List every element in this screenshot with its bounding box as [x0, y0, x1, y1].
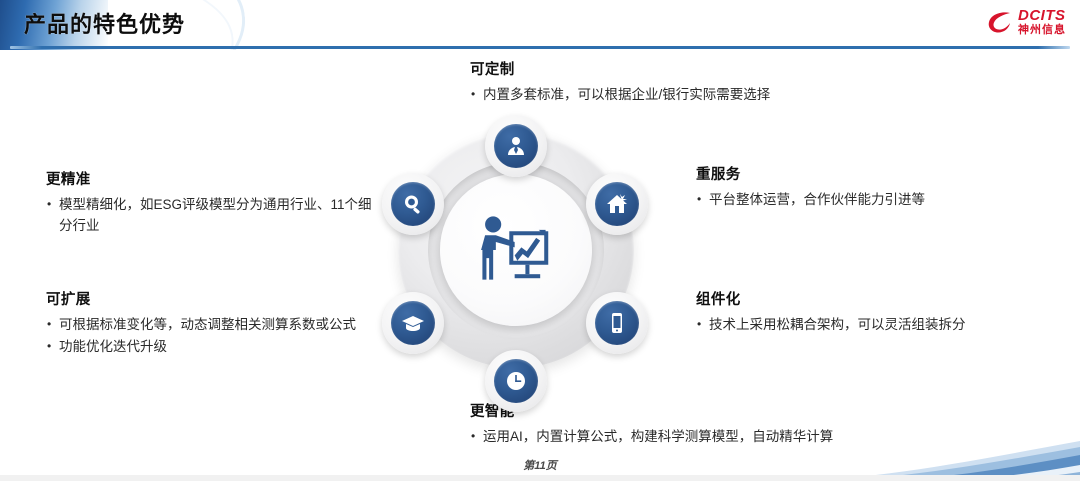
feature-block-accurate: 更精准 模型精细化，如ESG评级模型分为通用行业、11个细分行业	[46, 168, 376, 237]
feature-block-extensible: 可扩展 可根据标准变化等，动态调整相关测算系数或公式 功能优化迭代升级	[46, 288, 376, 358]
wheel-node-education[interactable]	[382, 292, 444, 354]
feature-bullet-list: 可根据标准变化等，动态调整相关测算系数或公式 功能优化迭代升级	[46, 314, 376, 357]
feature-block-componentized: 组件化 技术上采用松耦合架构，可以灵活组装拆分	[696, 288, 1026, 336]
node-core	[595, 301, 639, 345]
brand-text: DCITS 神州信息	[1018, 8, 1066, 36]
page-title: 产品的特色优势	[24, 7, 185, 39]
graduation-cap-icon	[401, 311, 425, 335]
feature-bullet-list: 内置多套标准，可以根据企业/银行实际需要选择	[470, 84, 890, 105]
feature-block-customizable: 可定制 内置多套标准，可以根据企业/银行实际需要选择	[470, 58, 890, 106]
node-core	[391, 182, 435, 226]
mobile-phone-icon	[605, 311, 629, 335]
wheel-node-clock[interactable]	[485, 350, 547, 412]
node-core	[494, 359, 538, 403]
feature-bullet: 技术上采用松耦合架构，可以灵活组装拆分	[696, 314, 1026, 335]
feature-block-service: 重服务 平台整体运营，合作伙伴能力引进等	[696, 163, 1026, 211]
feature-title: 可扩展	[46, 288, 376, 309]
header-divider-line	[10, 46, 1070, 49]
presenter-chart-icon	[473, 207, 559, 293]
wheel-hub	[440, 174, 592, 326]
wheel-node-search[interactable]	[382, 173, 444, 235]
feature-bullet: 内置多套标准，可以根据企业/银行实际需要选择	[470, 84, 890, 105]
home-icon	[605, 192, 629, 216]
feature-bullet: 模型精细化，如ESG评级模型分为通用行业、11个细分行业	[46, 194, 376, 236]
feature-bullet-list: 平台整体运营，合作伙伴能力引进等	[696, 189, 1026, 210]
node-core	[494, 124, 538, 168]
user-icon	[504, 134, 528, 158]
feature-bullet: 平台整体运营，合作伙伴能力引进等	[696, 189, 1026, 210]
dcits-swoosh-icon	[987, 10, 1013, 34]
magnifier-icon	[401, 192, 425, 216]
brand-logo: DCITS 神州信息	[987, 8, 1066, 36]
feature-title: 更精准	[46, 168, 376, 189]
brand-name-en: DCITS	[1018, 8, 1066, 23]
feature-title: 组件化	[696, 288, 1026, 309]
feature-wheel-diagram	[376, 110, 656, 400]
clock-icon	[504, 369, 528, 393]
footer-bottom-bar	[0, 475, 1080, 481]
slide-header: 产品的特色优势	[0, 0, 1080, 50]
node-core	[595, 182, 639, 226]
feature-bullet-list: 技术上采用松耦合架构，可以灵活组装拆分	[696, 314, 1026, 335]
node-core	[391, 301, 435, 345]
brand-name-cn: 神州信息	[1018, 25, 1066, 36]
wheel-node-mobile[interactable]	[586, 292, 648, 354]
feature-title: 重服务	[696, 163, 1026, 184]
feature-bullet-list: 模型精细化，如ESG评级模型分为通用行业、11个细分行业	[46, 194, 376, 236]
wheel-node-user[interactable]	[485, 115, 547, 177]
wheel-node-home[interactable]	[586, 173, 648, 235]
feature-bullet: 功能优化迭代升级	[46, 336, 376, 357]
feature-bullet: 可根据标准变化等，动态调整相关测算系数或公式	[46, 314, 376, 335]
feature-title: 可定制	[470, 58, 890, 79]
